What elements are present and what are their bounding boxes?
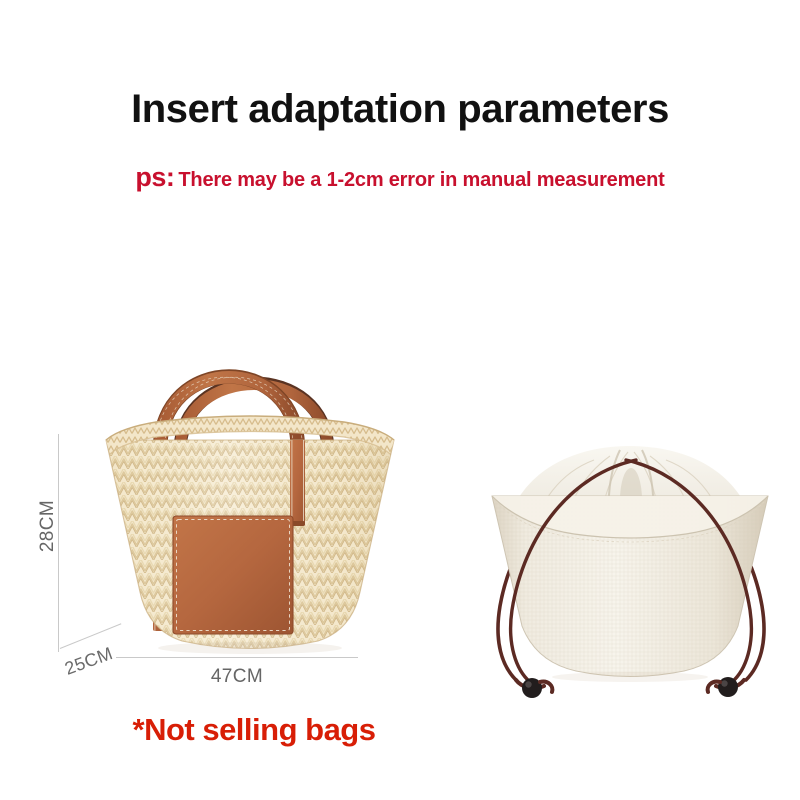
dimension-label-height: 28CM	[37, 496, 59, 556]
bead-toggle-left	[516, 678, 552, 698]
subtitle-prefix: ps:	[135, 162, 174, 192]
not-selling-bags-footnote: *Not selling bags	[104, 714, 404, 745]
subtitle-note: ps:There may be a 1-2cm error in manual …	[0, 164, 800, 191]
tote-leather-patch	[173, 516, 293, 634]
subtitle-text: There may be a 1-2cm error in manual mea…	[178, 169, 664, 191]
page-title: Insert adaptation parameters	[0, 88, 800, 130]
product-image-canvas: Insert adaptation parameters ps:There ma…	[0, 0, 800, 800]
tote-strap-tail-right-front	[290, 440, 305, 526]
straw-basket-tote	[60, 300, 440, 680]
insert-canvas-body	[470, 490, 790, 690]
canvas-drawstring-insert	[470, 430, 790, 720]
bead-toggle-right	[708, 677, 744, 697]
